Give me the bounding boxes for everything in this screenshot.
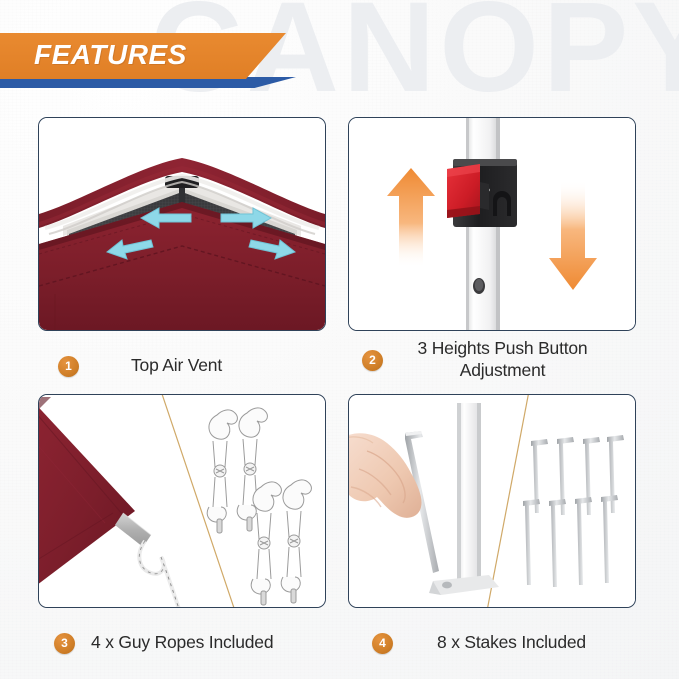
feature-panel-stakes [348, 394, 636, 608]
push-button-illustration [349, 118, 635, 330]
badge-number-2: 2 [362, 350, 383, 371]
badge-number-3: 3 [54, 633, 75, 654]
caption-text-4: 8 x Stakes Included [437, 632, 586, 654]
caption-guy-ropes: 3 4 x Guy Ropes Included [38, 620, 324, 666]
stakes-illustration [349, 395, 635, 607]
guy-ropes-illustration [39, 395, 325, 607]
caption-text-2-line1: 3 Heights Push Button [393, 338, 612, 360]
top-air-vent-illustration [39, 118, 325, 330]
page-title: FEATURES [34, 39, 187, 71]
badge-number-4: 4 [372, 633, 393, 654]
feature-panel-push-button [348, 117, 636, 331]
badge-number-1: 1 [58, 356, 79, 377]
feature-panel-guy-ropes [38, 394, 326, 608]
caption-text-2-line2: Adjustment [393, 360, 612, 382]
caption-stakes: 4 8 x Stakes Included [348, 620, 634, 666]
caption-push-button: 2 3 Heights Push Button Adjustment [348, 337, 634, 383]
caption-top-air-vent: 1 Top Air Vent [38, 343, 324, 389]
caption-text-1: Top Air Vent [131, 355, 222, 377]
caption-text-3: 4 x Guy Ropes Included [91, 632, 273, 654]
feature-panel-top-air-vent [38, 117, 326, 331]
features-banner: FEATURES [0, 33, 300, 89]
feature-infographic: CANOPY FEATURES [0, 0, 679, 679]
caption-text-2: 3 Heights Push Button Adjustment [393, 338, 612, 382]
